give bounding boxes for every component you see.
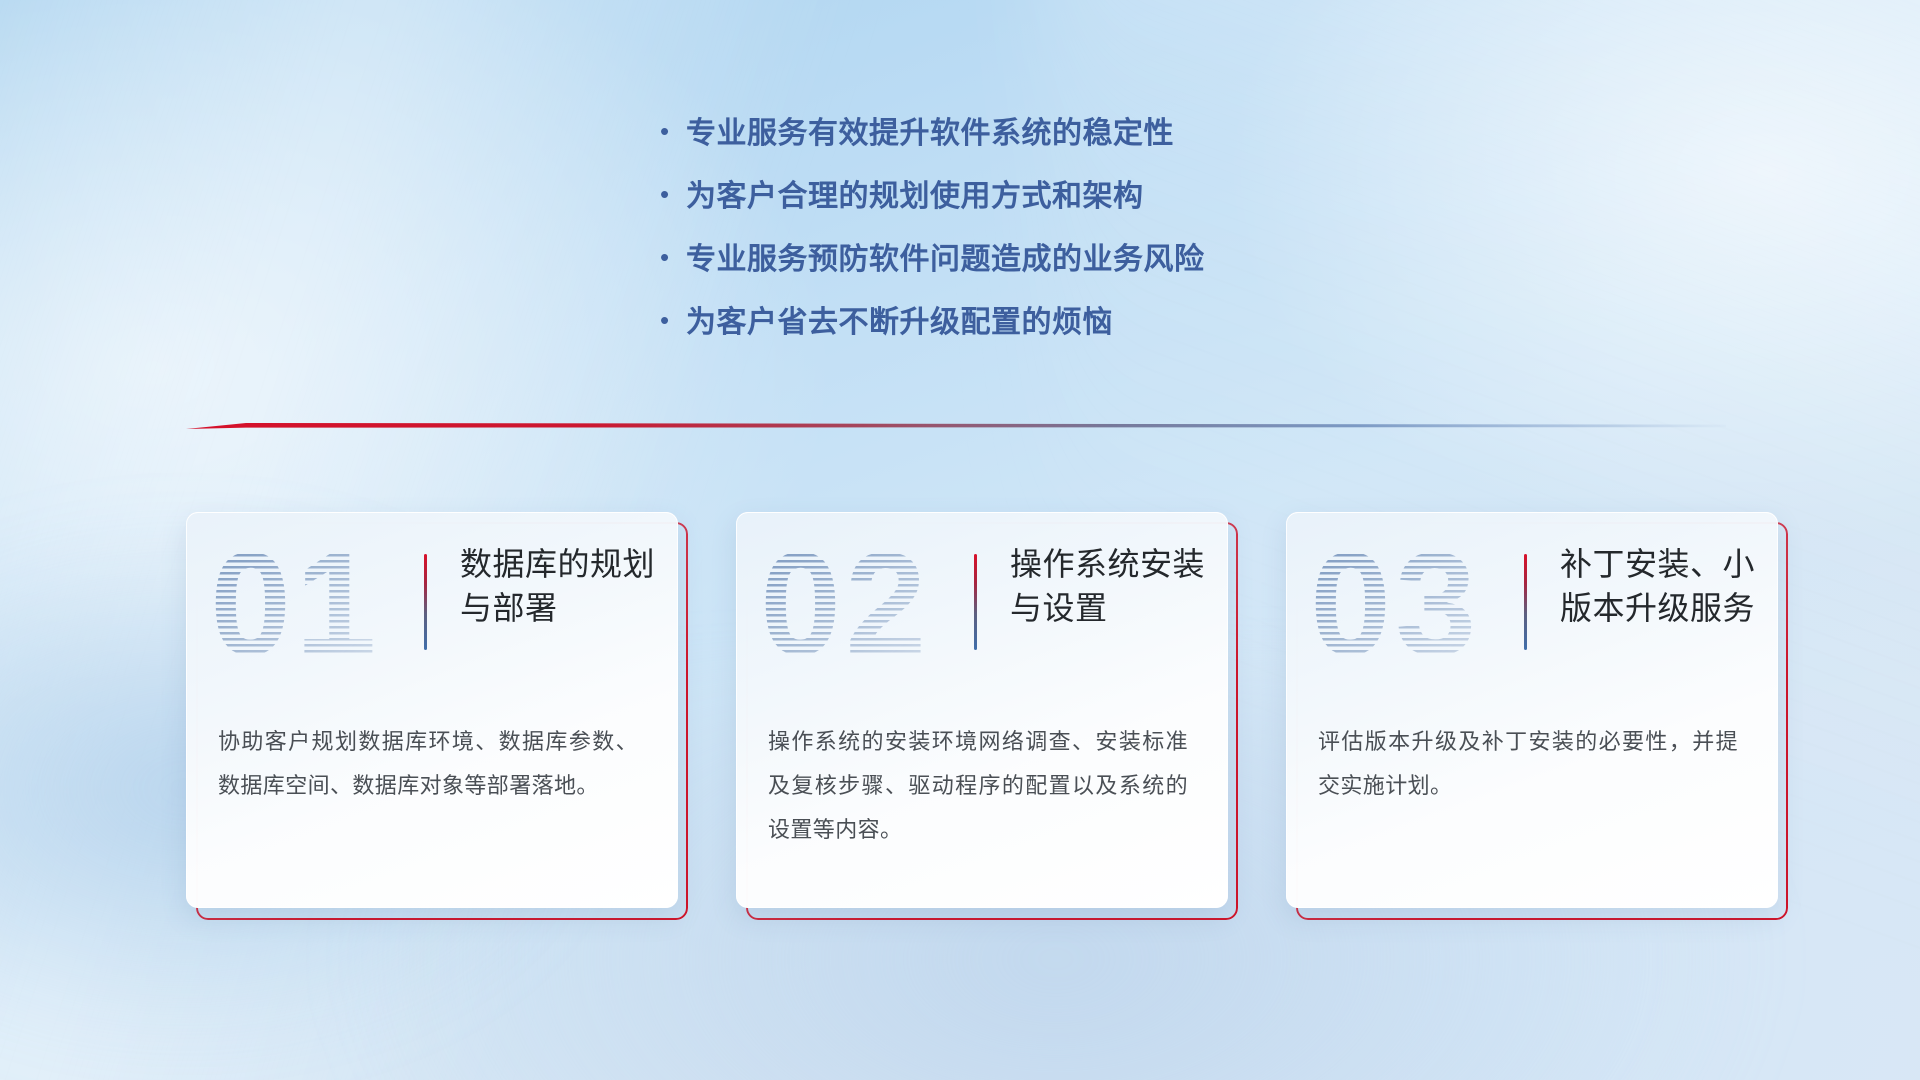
card-number-glyph: 02: [760, 530, 930, 676]
card-title-rule: [974, 554, 977, 650]
card-description: 操作系统的安装环境网络调查、安装标准及复核步骤、驱动程序的配置以及系统的设置等内…: [768, 720, 1188, 852]
card-panel: 01 数据库的规划与部署 协助客户规划数据库环境、数据库参数、数据库空间、数据库…: [186, 512, 678, 908]
card-header: 01 数据库的规划与部署: [186, 512, 678, 708]
card-description: 评估版本升级及补丁安装的必要性，并提交实施计划。: [1318, 720, 1738, 808]
card-number-watermark: 01: [210, 530, 410, 676]
card-panel: 02 操作系统安装与设置 操作系统的安装环境网络调查、安装标准及复核步骤、驱动程…: [736, 512, 1228, 908]
bullet-text: 专业服务预防软件问题造成的业务风险: [686, 234, 1205, 278]
bullet-dot-icon: •: [660, 118, 686, 144]
card-number-glyph: 03: [1310, 530, 1480, 676]
card-number-watermark: 03: [1310, 530, 1510, 676]
list-item: • 为客户合理的规划使用方式和架构: [660, 171, 1420, 234]
list-item: • 专业服务预防软件问题造成的业务风险: [660, 234, 1420, 297]
service-card-02[interactable]: 02 操作系统安装与设置 操作系统的安装环境网络调查、安装标准及复核步骤、驱动程…: [736, 512, 1228, 912]
card-title-rule: [1524, 554, 1527, 650]
list-item: • 为客户省去不断升级配置的烦恼: [660, 297, 1420, 360]
card-title: 操作系统安装与设置: [1010, 542, 1216, 630]
card-number-glyph: 01: [210, 530, 380, 676]
service-card-01[interactable]: 01 数据库的规划与部署 协助客户规划数据库环境、数据库参数、数据库空间、数据库…: [186, 512, 678, 912]
card-title: 补丁安装、小版本升级服务: [1560, 542, 1766, 630]
card-number-watermark: 02: [760, 530, 960, 676]
bullet-dot-icon: •: [660, 244, 686, 270]
bullet-dot-icon: •: [660, 181, 686, 207]
service-card-03[interactable]: 03 补丁安装、小版本升级服务 评估版本升级及补丁安装的必要性，并提交实施计划。: [1286, 512, 1778, 912]
card-title-rule: [424, 554, 427, 650]
bullet-text: 为客户合理的规划使用方式和架构: [686, 171, 1144, 215]
bullet-text: 为客户省去不断升级配置的烦恼: [686, 297, 1113, 341]
service-card-group: 01 数据库的规划与部署 协助客户规划数据库环境、数据库参数、数据库空间、数据库…: [0, 512, 1920, 930]
bullet-text: 专业服务有效提升软件系统的稳定性: [686, 108, 1174, 152]
card-header: 03 补丁安装、小版本升级服务: [1286, 512, 1778, 708]
card-title: 数据库的规划与部署: [460, 542, 666, 630]
card-panel: 03 补丁安装、小版本升级服务 评估版本升级及补丁安装的必要性，并提交实施计划。: [1286, 512, 1778, 908]
section-divider: [186, 414, 1726, 440]
bullet-dot-icon: •: [660, 307, 686, 333]
card-description: 协助客户规划数据库环境、数据库参数、数据库空间、数据库对象等部署落地。: [218, 720, 638, 808]
benefits-bullet-list: • 专业服务有效提升软件系统的稳定性 • 为客户合理的规划使用方式和架构 • 专…: [660, 108, 1420, 360]
list-item: • 专业服务有效提升软件系统的稳定性: [660, 108, 1420, 171]
card-header: 02 操作系统安装与设置: [736, 512, 1228, 708]
